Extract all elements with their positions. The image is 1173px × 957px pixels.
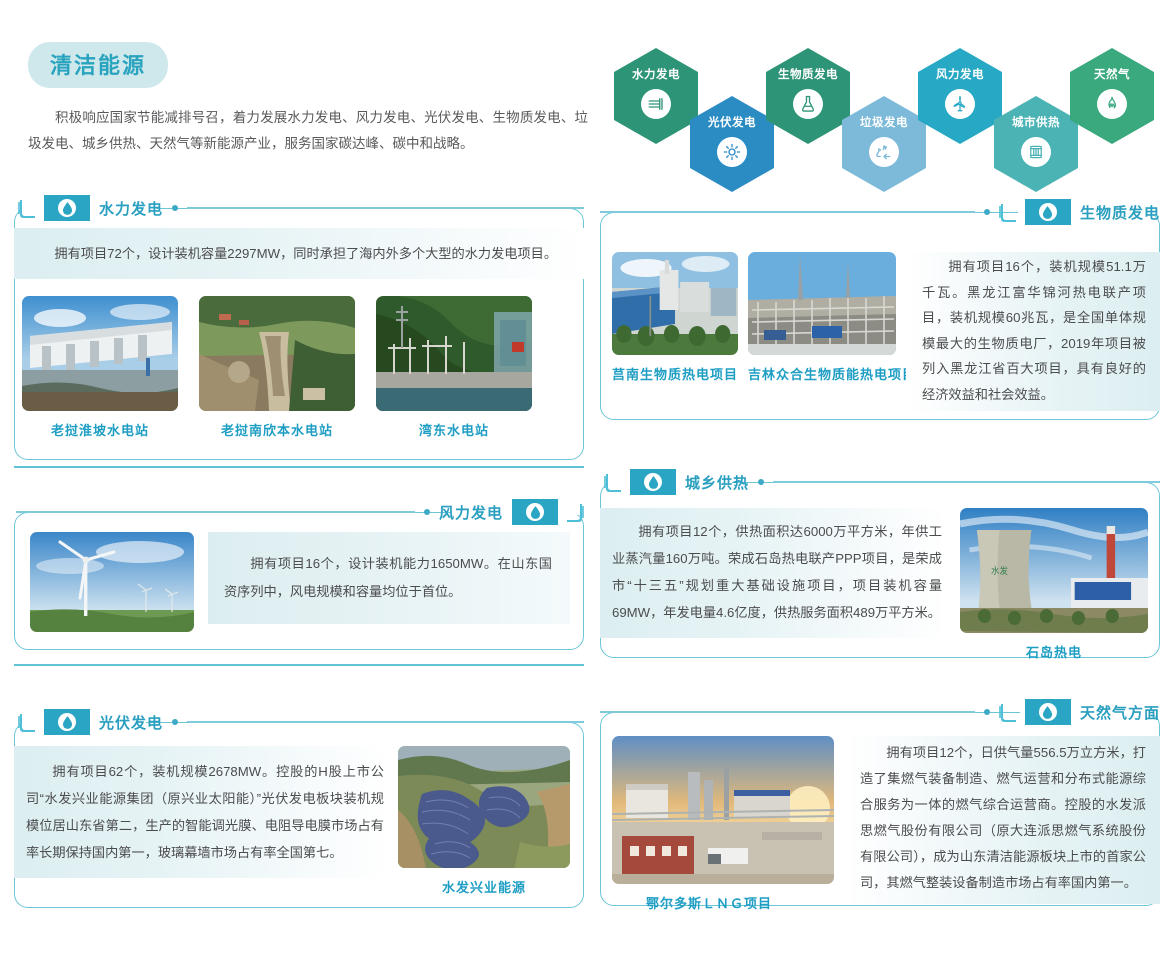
lead-line xyxy=(773,481,1160,482)
hexagon-natural-gas[interactable]: 天然气 xyxy=(1070,48,1154,144)
photo-item: 水发兴业能源 xyxy=(398,746,584,896)
hexagon-waste[interactable]: 垃圾发电 xyxy=(842,96,926,192)
photo-caption: 水发兴业能源 xyxy=(398,877,570,896)
hexagon-hydro[interactable]: 水力发电 xyxy=(614,48,698,144)
section-header-solar: 光伏发电 xyxy=(18,707,584,737)
water-drop-icon xyxy=(526,503,544,521)
water-drop-icon xyxy=(58,199,76,217)
section-badge xyxy=(44,195,90,221)
lead-dot xyxy=(758,479,764,485)
hexagon-label: 光伏发电 xyxy=(708,114,756,130)
photo-hydro-1[interactable] xyxy=(22,296,178,411)
lead-line xyxy=(600,711,975,712)
section-badge xyxy=(630,469,676,495)
section-title: 城乡供热 xyxy=(685,472,749,493)
heating-body: 拥有项目12个，供热面积达6000万平方米，年供工业蒸汽量160万吨。荣成石岛热… xyxy=(600,508,1160,661)
hexagon-label: 城市供热 xyxy=(1012,114,1060,130)
svg-text:水发: 水发 xyxy=(991,565,1008,576)
lead-dot xyxy=(172,205,178,211)
photo-caption: 石岛热电 xyxy=(960,642,1148,661)
page-title: 清洁能源 xyxy=(28,42,168,88)
photo-heating-1[interactable]: 水发 xyxy=(960,508,1148,633)
bookmark-icon xyxy=(999,200,1016,224)
hexagon-wind[interactable]: 风力发电 xyxy=(918,48,1002,144)
hexagon-label: 天然气 xyxy=(1094,66,1130,82)
lead-dot xyxy=(984,209,990,215)
lead-line xyxy=(16,511,415,512)
water-drop-icon xyxy=(644,473,662,491)
section-title: 风力发电 xyxy=(439,502,503,523)
bookmark-icon xyxy=(18,196,35,220)
section-header-hydro: 水力发电 xyxy=(18,193,584,223)
recycle-icon xyxy=(869,137,899,167)
section-badge xyxy=(512,499,558,525)
hexagon-label: 风力发电 xyxy=(936,66,984,82)
section-text-hydro: 拥有项目72个，设计装机容量2297MW，同时承担了海内外多个大型的水力发电项目… xyxy=(14,228,584,279)
hexagon-label: 垃圾发电 xyxy=(860,114,908,130)
energy-hexagon-cluster: 水力发电 光伏发电 生物质发电 xyxy=(600,22,1173,187)
lead-line xyxy=(187,721,584,722)
hydro-dam-icon xyxy=(641,89,671,119)
photo-item: 吉林众合生物质能热电项目 xyxy=(748,252,896,383)
section-text-heating: 拥有项目12个，供热面积达6000万平方米，年供工业蒸汽量160万吨。荣成石岛热… xyxy=(600,508,948,638)
section-title: 光伏发电 xyxy=(99,712,163,733)
hexagon-label: 生物质发电 xyxy=(778,66,838,82)
photo-caption: 鄂尔多斯ＬＮＧ项目 xyxy=(612,893,834,912)
divider-wind xyxy=(14,664,584,666)
lead-dot xyxy=(172,719,178,725)
flask-icon xyxy=(793,89,823,119)
clean-energy-page: 清洁能源 积极响应国家节能减排号召，着力发展水力发电、风力发电、光伏发电、生物质… xyxy=(0,0,1173,957)
photo-caption: 老挝淮坡水电站 xyxy=(22,420,178,439)
section-title: 天然气方面 xyxy=(1080,702,1160,723)
section-badge xyxy=(44,709,90,735)
lead-line xyxy=(187,207,584,208)
section-title: 水力发电 xyxy=(99,198,163,219)
photo-item: 鄂尔多斯ＬＮＧ项目 xyxy=(612,736,834,912)
bookmark-icon xyxy=(567,500,584,524)
solar-body: 拥有项目62个，装机规模2678MW。控股的H股上市公司“水发兴业能源集团（原兴… xyxy=(14,746,584,896)
wind-body: 拥有项目16个，设计装机能力1650MW。在山东国资序列中，风电规模和容量均位于… xyxy=(30,532,570,632)
hexagon-solar[interactable]: 光伏发电 xyxy=(690,96,774,192)
water-drop-icon xyxy=(1039,203,1057,221)
hexagon-label: 水力发电 xyxy=(632,66,680,82)
section-text-biomass: 拥有项目16个，装机规模51.1万千瓦。黑龙江富华锦河热电联产项目，装机规模60… xyxy=(906,252,1160,411)
divider-hydro xyxy=(14,466,584,468)
lead-dot xyxy=(424,509,430,515)
water-drop-icon xyxy=(58,713,76,731)
hexagon-biomass[interactable]: 生物质发电 xyxy=(766,48,850,144)
section-header-gas: 天然气方面 xyxy=(600,697,1160,727)
photo-item: 老挝南欣本水电站 xyxy=(199,296,355,439)
sun-icon xyxy=(717,137,747,167)
section-text-gas: 拥有项目12个，日供气量556.5万立方米，打造了集燃气装备制造、燃气运营和分布… xyxy=(846,736,1160,904)
section-text-solar: 拥有项目62个，装机规模2678MW。控股的H股上市公司“水发兴业能源集团（原兴… xyxy=(14,746,388,878)
section-badge xyxy=(1025,199,1071,225)
photo-item: 老挝淮坡水电站 xyxy=(22,296,178,439)
intro-paragraph: 积极响应国家节能减排号召，着力发展水力发电、风力发电、光伏发电、生物质发电、垃圾… xyxy=(28,105,588,157)
photo-wind-1[interactable] xyxy=(30,532,194,632)
photo-caption: 吉林众合生物质能热电项目 xyxy=(748,364,896,383)
section-header-heating: 城乡供热 xyxy=(604,467,1160,497)
section-badge xyxy=(1025,699,1071,725)
section-text-wind: 拥有项目16个，设计装机能力1650MW。在山东国资序列中，风电规模和容量均位于… xyxy=(208,532,570,624)
gas-body: 鄂尔多斯ＬＮＧ项目 拥有项目12个，日供气量556.5万立方米，打造了集燃气装备… xyxy=(612,736,1160,912)
photo-gas-1[interactable] xyxy=(612,736,834,884)
photo-item: 莒南生物质热电项目 xyxy=(612,252,738,383)
turbine-icon xyxy=(945,89,975,119)
photo-solar-1[interactable] xyxy=(398,746,570,868)
water-drop-icon xyxy=(1039,703,1057,721)
photo-caption: 莒南生物质热电项目 xyxy=(612,364,738,383)
radiator-icon xyxy=(1021,137,1051,167)
bookmark-icon xyxy=(604,470,621,494)
photo-hydro-2[interactable] xyxy=(199,296,355,411)
hexagon-city-heating[interactable]: 城市供热 xyxy=(994,96,1078,192)
section-header-biomass: 生物质发电 xyxy=(600,197,1160,227)
section-title: 生物质发电 xyxy=(1080,202,1160,223)
lead-dot xyxy=(984,709,990,715)
photo-biomass-1[interactable] xyxy=(612,252,738,355)
photo-item: 湾东水电站 xyxy=(376,296,532,439)
photo-item: 水发 石岛热电 xyxy=(960,508,1160,661)
biomass-body: 莒南生物质热电项目 吉林众合生物质能热电项目 xyxy=(612,252,1160,411)
photo-row-hydro: 老挝淮坡水电站 老挝南欣本水电站 xyxy=(22,296,578,439)
photo-caption: 老挝南欣本水电站 xyxy=(199,420,355,439)
flame-icon xyxy=(1097,89,1127,119)
bookmark-icon xyxy=(18,710,35,734)
lead-line xyxy=(600,211,975,212)
bookmark-icon xyxy=(999,700,1016,724)
section-header-wind: 风力发电 xyxy=(16,497,584,527)
photo-biomass-2[interactable] xyxy=(748,252,896,355)
photo-hydro-3[interactable] xyxy=(376,296,532,411)
photo-caption: 湾东水电站 xyxy=(376,420,532,439)
